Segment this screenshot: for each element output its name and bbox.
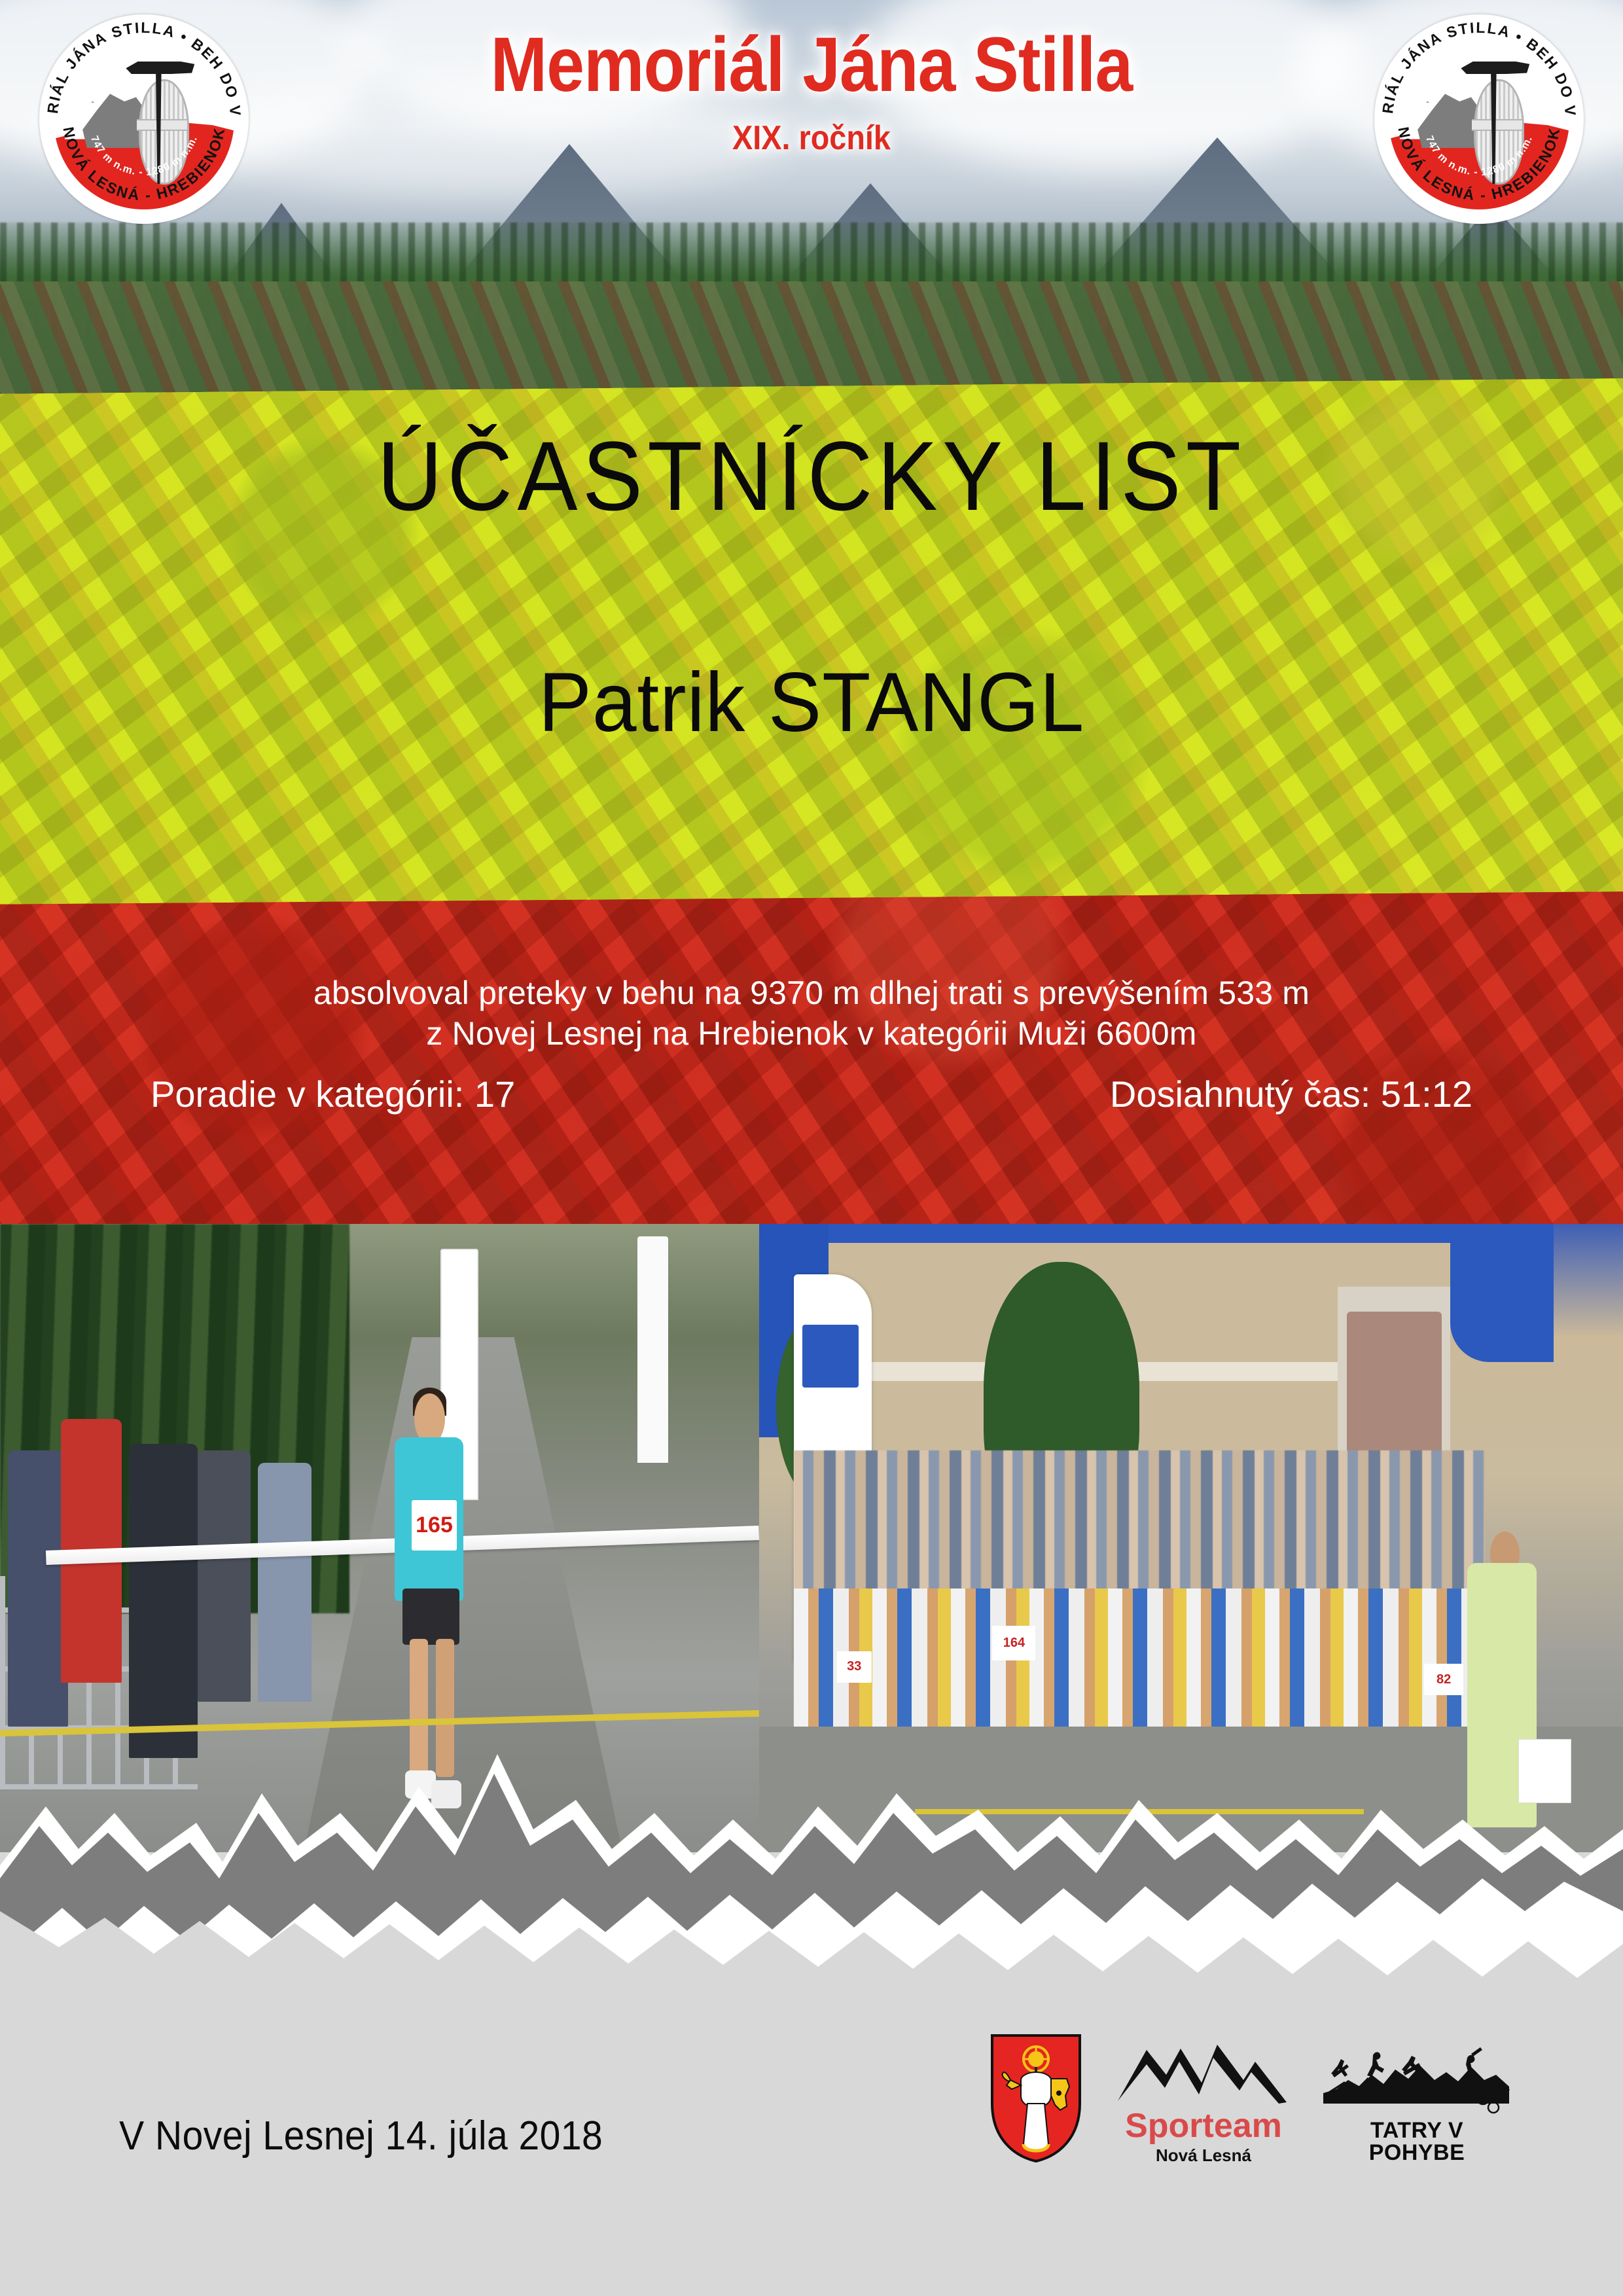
result-description-line-2: z Novej Lesnej na Hrebienok v kategórii … [0,1016,1623,1051]
sporteam-sublabel: Nová Lesná [1125,2147,1282,2164]
footer: V Novej Lesnej 14. júla 2018 [0,2015,1623,2296]
sponsor-flag-accent [802,1325,859,1388]
runner-bib-number: 164 [992,1626,1035,1660]
sponsor-logos: Sporteam Nová Lesná [987,2033,1512,2164]
finish-time: Dosiahnutý čas: 51:12 [1110,1076,1472,1113]
runner-shorts [402,1588,459,1645]
tatry-label: TATRY V POHYBE [1322,2119,1512,2164]
date-place: V Novej Lesnej 14. júla 2018 [119,2113,603,2159]
sponsor-tatry-v-pohybe: TATRY V POHYBE [1322,2043,1512,2164]
event-title: Memoriál Jána Stilla [98,26,1525,103]
mass-start-photo: 33 164 82 [759,1224,1623,1852]
event-subtitle: XIX. ročník [81,121,1542,155]
runner-shoe-right [431,1780,461,1808]
runner-head [414,1393,444,1444]
photo-strip: 165 33 164 82 [0,1224,1623,1852]
result-stats: Poradie v kategórii: 17 Dosiahnutý čas: … [151,1076,1472,1113]
red-band: absolvoval preteky v behu na 9370 m dlhe… [0,891,1623,1245]
coat-of-arms-nova-lesna [987,2033,1085,2164]
spectator [258,1463,311,1702]
runner-leg-right [436,1639,454,1777]
recipient-name: Patrik STANGL [41,661,1582,745]
yellow-band: ÚČASTNÍCKY LIST Patrik STANGL [0,378,1623,918]
category-rank: Poradie v kategórii: 17 [151,1076,515,1113]
official-paper [1518,1739,1571,1803]
spectator [8,1450,69,1727]
sporteam-mountain-icon [1115,2036,1292,2108]
red-band-content: absolvoval preteky v behu na 9370 m dlhe… [0,898,1623,1238]
finish-photo-banner-flag-2 [637,1236,668,1463]
sponsor-sporteam: Sporteam Nová Lesná [1115,2036,1292,2164]
runner-bib-number: 33 [837,1651,872,1683]
road-marking [915,1809,1364,1814]
tatry-mountain-icon [1322,2043,1512,2122]
runner-leg-left [410,1639,428,1777]
spectator [129,1444,197,1758]
yellow-band-content: ÚČASTNÍCKY LIST Patrik STANGL [0,386,1623,910]
runner-bib-number: 82 [1424,1664,1463,1695]
start-arch-right [1450,1224,1554,1362]
runner-bib-number: 165 [412,1500,457,1551]
spectator [198,1450,251,1702]
result-description-line-1: absolvoval preteky v behu na 9370 m dlhe… [0,975,1623,1011]
finish-line-photo: 165 [0,1224,759,1852]
sporteam-label: Sporteam [1125,2109,1282,2143]
certificate-poster: MEMORIÁL JÁNA STILLA • BEH DO VRCHU NOVÁ… [0,0,1623,2296]
page-title: ÚČASTNÍCKY LIST [65,427,1558,525]
